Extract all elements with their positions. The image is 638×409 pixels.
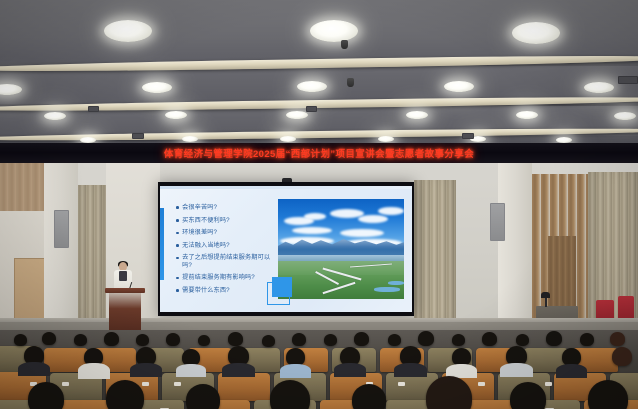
audience-head — [74, 334, 87, 346]
bullet-dot-icon — [176, 244, 179, 247]
seat-number-tag — [174, 382, 181, 386]
projection-screen: 会很辛苦吗? 买东西不便利吗? 环境很差吗? 无法融入当地吗? 去了之后想提前结… — [158, 182, 414, 316]
audience-head — [28, 382, 64, 409]
ceiling-vent — [462, 133, 474, 139]
slide-landscape-photo — [278, 199, 404, 299]
audience-head — [262, 335, 275, 347]
audience-head — [352, 384, 386, 409]
list-item: 去了之后想提前结束服务期可以吗? — [176, 254, 274, 269]
bullet-text: 需要带什么东西? — [182, 287, 274, 294]
photo-cloud — [378, 207, 404, 215]
audience-head — [104, 332, 119, 346]
photo-river — [388, 281, 404, 285]
photo-river — [374, 287, 400, 292]
audience-head — [612, 347, 632, 366]
bullet-text: 提前结束服务期有影响吗? — [182, 274, 274, 281]
ceiling-vent — [306, 106, 317, 112]
slide-top-line — [160, 186, 412, 189]
audience-shoulders — [500, 363, 533, 377]
list-item: 提前结束服务期有影响吗? — [176, 274, 274, 281]
photo-cloud — [304, 213, 326, 220]
audience-head — [42, 332, 56, 345]
ceiling-downlight — [182, 136, 198, 142]
ceiling-downlight — [44, 112, 66, 120]
audience-shoulders — [222, 363, 255, 377]
seat-number-tag — [398, 382, 405, 386]
ceiling-downlight — [165, 111, 187, 119]
audience-head — [516, 334, 529, 346]
bullet-text: 环境很差吗? — [182, 229, 274, 236]
list-item: 买东西不便利吗? — [176, 217, 274, 224]
bullet-dot-icon — [176, 277, 179, 280]
audience-head — [198, 335, 210, 346]
slide-bullet-list: 会很辛苦吗? 买东西不便利吗? 环境很差吗? 无法融入当地吗? 去了之后想提前结… — [176, 204, 274, 300]
ceiling-vent — [618, 76, 638, 84]
audience-section — [0, 330, 638, 409]
auditorium-photo: 体育经济与管理学院2025届“西部计划”项目宣讲会暨志愿者故事分享会 会很辛苦吗… — [0, 0, 638, 409]
wall-control-panel[interactable] — [54, 210, 69, 248]
list-item: 会很辛苦吗? — [176, 204, 274, 211]
seat-number-tag — [142, 382, 149, 386]
seat-number-tag — [478, 382, 485, 386]
photo-cloud — [358, 215, 388, 223]
ceiling-downlight — [584, 82, 614, 93]
audience-head — [580, 333, 594, 346]
audience-shoulders — [280, 364, 311, 378]
ceiling-downlight — [297, 81, 327, 92]
ceiling-downlight — [142, 82, 172, 93]
presentation-slide: 会很辛苦吗? 买东西不便利吗? 环境很差吗? 无法融入当地吗? 去了之后想提前结… — [160, 186, 412, 312]
audience-head — [292, 333, 306, 346]
audience-head — [510, 382, 546, 409]
podium — [108, 288, 142, 332]
presenter-inner-garment — [119, 271, 127, 281]
ceiling-downlight — [280, 136, 296, 142]
ceiling — [0, 0, 638, 160]
list-item: 环境很差吗? — [176, 229, 274, 236]
audience-head — [418, 331, 434, 346]
ceiling-vent — [132, 133, 144, 139]
audience-head — [14, 334, 27, 346]
ceiling-downlight — [516, 111, 538, 119]
audience-head — [482, 332, 497, 346]
bullet-dot-icon — [176, 232, 179, 235]
audience-shoulders — [394, 363, 427, 377]
audience-head — [186, 384, 220, 409]
seat — [218, 373, 270, 401]
audience-head — [136, 334, 149, 346]
bullet-dot-icon — [176, 257, 179, 260]
ceiling-vent — [88, 106, 99, 112]
slide-square-filled-decoration — [272, 277, 292, 297]
audience-head — [388, 334, 401, 346]
sprinkler-head — [341, 40, 348, 49]
bullet-text: 无法融入当地吗? — [182, 242, 274, 249]
ceiling-downlight — [310, 20, 358, 42]
bullet-dot-icon — [176, 219, 179, 222]
audience-head — [546, 331, 562, 346]
list-item: 需要带什么东西? — [176, 287, 274, 294]
ceiling-downlight — [444, 81, 474, 92]
ceiling-downlight — [286, 111, 308, 119]
photo-cloud — [340, 229, 384, 237]
audience-head — [324, 334, 337, 346]
audience-shoulders — [334, 363, 366, 377]
sprinkler-head — [347, 78, 354, 87]
ceiling-downlight — [512, 22, 560, 44]
bullet-text: 会很辛苦吗? — [182, 204, 274, 211]
audience-head — [610, 332, 625, 346]
slide-accent-bar — [160, 208, 164, 280]
ceiling-downlight — [378, 136, 394, 142]
list-item: 无法融入当地吗? — [176, 242, 274, 249]
audience-shoulders — [78, 363, 110, 379]
bullet-text: 买东西不便利吗? — [182, 217, 274, 224]
audience-shoulders — [556, 364, 587, 378]
audience-shoulders — [176, 364, 206, 377]
led-banner-text: 体育经济与管理学院2025届“西部计划”项目宣讲会暨志愿者故事分享会 — [164, 146, 474, 160]
ceiling-downlight — [406, 111, 428, 119]
audience-head — [354, 332, 369, 346]
bullet-text: 去了之后想提前结束服务期可以吗? — [182, 254, 274, 269]
table-lamp-icon — [541, 292, 550, 298]
led-banner: 体育经济与管理学院2025届“西部计划”项目宣讲会暨志愿者故事分享会 — [0, 143, 638, 163]
audience-head — [452, 334, 465, 346]
wall-control-panel-right[interactable] — [490, 203, 505, 241]
ceiling-downlight — [104, 20, 152, 42]
seat-number-tag — [62, 382, 69, 386]
seat-number-tag — [545, 382, 552, 386]
bullet-dot-icon — [176, 206, 179, 209]
audience-head — [228, 332, 243, 346]
ceiling-downlight — [614, 112, 636, 120]
bullet-dot-icon — [176, 289, 179, 292]
photo-cloud — [292, 227, 332, 234]
podium-body — [109, 293, 141, 332]
audience-head — [166, 333, 180, 346]
audience-shoulders — [18, 362, 50, 376]
audience-head — [106, 380, 144, 409]
audience-shoulders — [130, 363, 162, 377]
